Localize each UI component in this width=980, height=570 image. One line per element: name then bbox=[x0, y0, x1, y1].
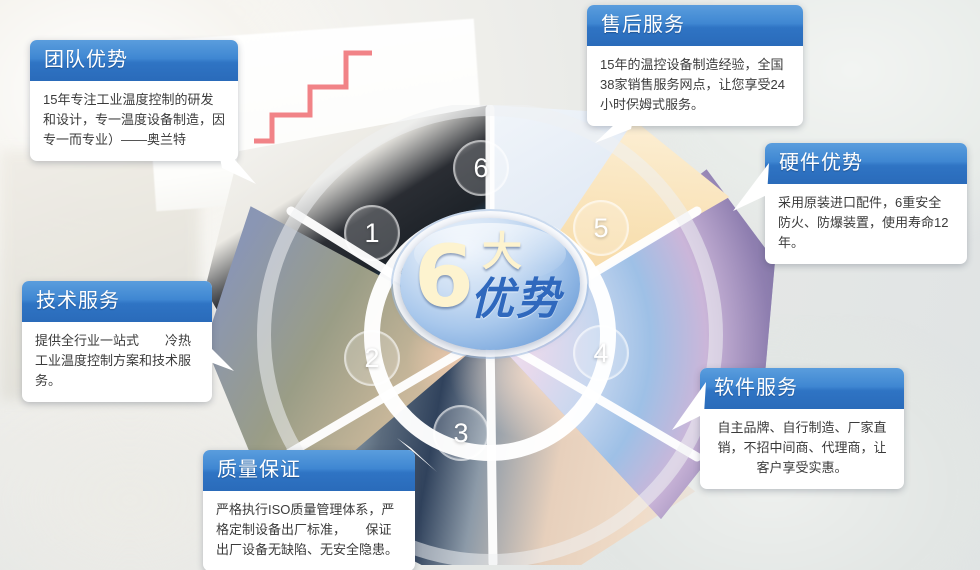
center-badge-word: 优势 bbox=[470, 278, 562, 322]
callout-team-advantage-tail bbox=[216, 138, 258, 186]
callout-quality-assurance-tail bbox=[395, 436, 439, 476]
callout-hardware-advantage-title: 硬件优势 bbox=[765, 143, 967, 184]
callout-hardware-advantage[interactable]: 硬件优势 采用原装进口配件，6重安全防火、防爆装置，使用寿命12年。 bbox=[765, 143, 967, 264]
segment-number-3[interactable]: 3 bbox=[433, 405, 489, 461]
infographic-canvas: 1 2 3 4 5 6 6 大 优势 团队优势 15年专注工业温度控制的研发和设… bbox=[0, 0, 980, 570]
callout-hardware-advantage-body: 采用原装进口配件，6重安全防火、防爆装置，使用寿命12年。 bbox=[765, 184, 967, 264]
center-badge: 6 大 优势 bbox=[400, 218, 580, 350]
callout-team-advantage[interactable]: 团队优势 15年专注工业温度控制的研发和设计，专一温度设备制造，因专一而专业）—… bbox=[30, 40, 238, 161]
callout-after-sales-service-tail bbox=[593, 101, 641, 145]
segment-number-5[interactable]: 5 bbox=[573, 200, 629, 256]
callout-technical-service[interactable]: 技术服务 提供全行业一站式 冷热工业温度控制方案和技术服务。 bbox=[22, 281, 212, 402]
callout-team-advantage-body: 15年专注工业温度控制的研发和设计，专一温度设备制造，因专一而专业）——奥兰特 bbox=[30, 81, 238, 161]
segment-number-2[interactable]: 2 bbox=[344, 330, 400, 386]
callout-technical-service-body: 提供全行业一站式 冷热工业温度控制方案和技术服务。 bbox=[22, 322, 212, 402]
callout-software-service[interactable]: 软件服务 自主品牌、自行制造、厂家直销，不招中间商、代理商，让客户享受实惠。 bbox=[700, 368, 904, 489]
callout-software-service-tail bbox=[670, 378, 708, 432]
segment-number-1[interactable]: 1 bbox=[344, 205, 400, 261]
callout-software-service-title: 软件服务 bbox=[700, 368, 904, 409]
callout-software-service-body: 自主品牌、自行制造、厂家直销，不招中间商、代理商，让客户享受实惠。 bbox=[700, 409, 904, 489]
callout-after-sales-service[interactable]: 售后服务 15年的温控设备制造经验，全国38家销售服务网点，让您享受24小时保姆… bbox=[587, 5, 803, 126]
callout-hardware-advantage-tail bbox=[731, 161, 771, 213]
callout-team-advantage-title: 团队优势 bbox=[30, 40, 238, 81]
center-badge-unit: 大 bbox=[482, 232, 522, 272]
callout-after-sales-service-title: 售后服务 bbox=[587, 5, 803, 46]
segment-number-6[interactable]: 6 bbox=[453, 140, 509, 196]
center-badge-number: 6 bbox=[414, 234, 474, 320]
callout-quality-assurance-body: 严格执行ISO质量管理体系，严格定制设备出厂标准， 保证出厂设备无缺陷、无安全隐… bbox=[203, 491, 415, 570]
segment-number-4[interactable]: 4 bbox=[573, 325, 629, 381]
callout-technical-service-tail bbox=[192, 331, 236, 375]
callout-quality-assurance-title: 质量保证 bbox=[203, 450, 415, 491]
callout-quality-assurance[interactable]: 质量保证 严格执行ISO质量管理体系，严格定制设备出厂标准， 保证出厂设备无缺陷… bbox=[203, 450, 415, 570]
callout-technical-service-title: 技术服务 bbox=[22, 281, 212, 322]
